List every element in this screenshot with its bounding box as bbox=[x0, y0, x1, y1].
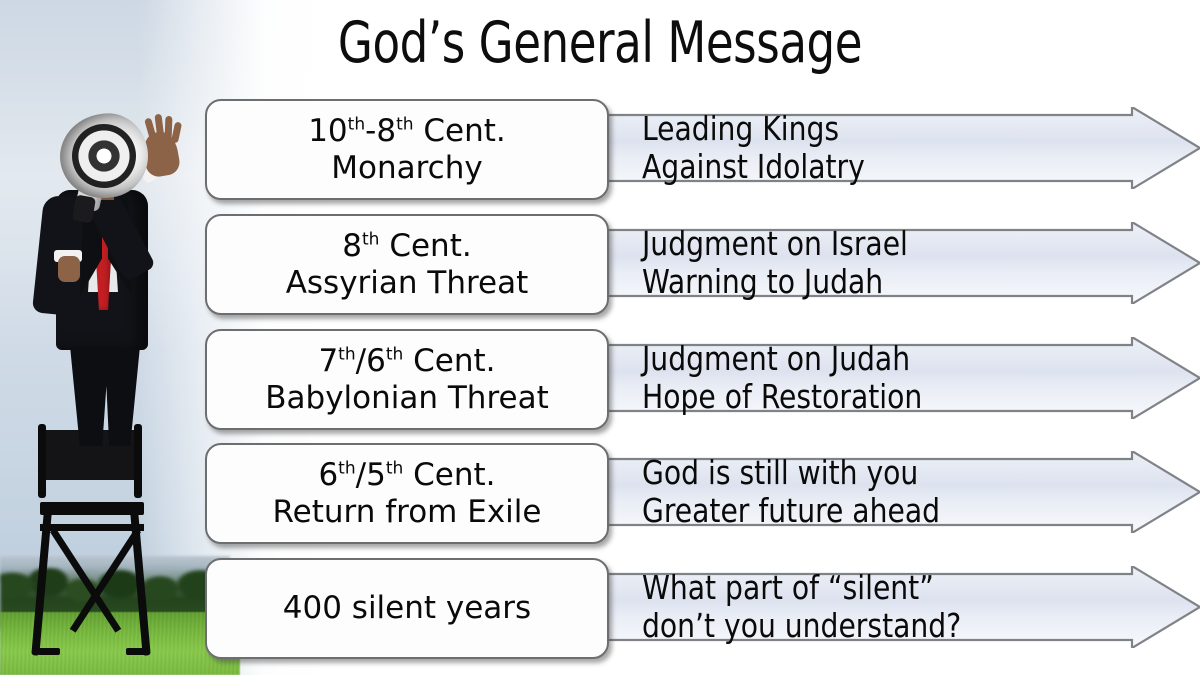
message-text: Judgment on Judah Hope of Restoration bbox=[642, 337, 1089, 419]
period-pre: 8 bbox=[342, 228, 362, 264]
period-text: 6th/5th Cent. Return from Exile bbox=[265, 457, 550, 530]
period-label-box: 400 silent years bbox=[205, 558, 609, 659]
period-post: Cent. bbox=[403, 343, 495, 379]
timeline-row: Judgment on Israel Warning to Judah 8th … bbox=[0, 205, 1200, 320]
period-sup2: th bbox=[386, 459, 403, 479]
period-sup2: th bbox=[396, 115, 413, 135]
message-text: God is still with you Greater future ahe… bbox=[642, 451, 1089, 533]
period-text: 400 silent years bbox=[275, 590, 539, 626]
message-arrow: Leading Kings Against Idolatry bbox=[608, 107, 1200, 189]
period-post: Cent. bbox=[379, 228, 471, 264]
period-post: Cent. bbox=[414, 113, 506, 149]
period-line-2: Babylonian Threat bbox=[265, 380, 549, 416]
period-label-box: 8th Cent. Assyrian Threat bbox=[205, 214, 609, 315]
timeline-row: Leading Kings Against Idolatry 10th-8th … bbox=[0, 90, 1200, 205]
period-pre: 6 bbox=[318, 457, 338, 493]
message-line-1: Leading Kings bbox=[642, 110, 1089, 148]
period-sup: th bbox=[348, 115, 365, 135]
period-mid: -8 bbox=[365, 113, 396, 149]
timeline-row: What part of “silent” don’t you understa… bbox=[0, 549, 1200, 664]
period-label-box: 7th/6th Cent. Babylonian Threat bbox=[205, 329, 609, 430]
message-text: What part of “silent” don’t you understa… bbox=[642, 566, 1089, 648]
message-line-1: What part of “silent” bbox=[642, 569, 1089, 607]
timeline-row: God is still with you Greater future ahe… bbox=[0, 434, 1200, 549]
message-arrow: Judgment on Israel Warning to Judah bbox=[608, 222, 1200, 304]
message-line-2: Against Idolatry bbox=[642, 148, 1089, 186]
page-title: God’s General Message bbox=[72, 14, 1128, 74]
period-sup: th bbox=[362, 230, 379, 250]
period-label-box: 6th/5th Cent. Return from Exile bbox=[205, 443, 609, 544]
timeline-row: Judgment on Judah Hope of Restoration 7t… bbox=[0, 320, 1200, 435]
period-post: Cent. bbox=[403, 457, 495, 493]
period-mid: /6 bbox=[356, 343, 386, 379]
message-text: Leading Kings Against Idolatry bbox=[642, 107, 1089, 189]
period-sup: th bbox=[338, 459, 355, 479]
message-line-2: Warning to Judah bbox=[642, 263, 1089, 301]
message-text: Judgment on Israel Warning to Judah bbox=[642, 222, 1089, 304]
slide-canvas: God’s General Message Leading Kings Agai… bbox=[0, 0, 1200, 675]
period-line-2: Assyrian Threat bbox=[286, 265, 529, 301]
period-text: 10th-8th Cent. Monarchy bbox=[300, 113, 514, 186]
period-line-2: Monarchy bbox=[308, 150, 506, 186]
period-text: 8th Cent. Assyrian Threat bbox=[278, 228, 537, 301]
message-line-2: Greater future ahead bbox=[642, 492, 1089, 530]
period-label-box: 10th-8th Cent. Monarchy bbox=[205, 99, 609, 200]
period-sup: th bbox=[338, 345, 355, 365]
message-arrow: God is still with you Greater future ahe… bbox=[608, 451, 1200, 533]
period-pre: 7 bbox=[318, 343, 338, 379]
message-line-2: Hope of Restoration bbox=[642, 378, 1089, 416]
message-arrow: What part of “silent” don’t you understa… bbox=[608, 566, 1200, 648]
period-pre: 10 bbox=[308, 113, 347, 149]
message-arrow: Judgment on Judah Hope of Restoration bbox=[608, 337, 1200, 419]
period-pre: 400 silent years bbox=[283, 590, 531, 626]
message-line-1: Judgment on Israel bbox=[642, 225, 1089, 263]
message-line-1: God is still with you bbox=[642, 454, 1089, 492]
period-text: 7th/6th Cent. Babylonian Threat bbox=[257, 343, 557, 416]
period-sup2: th bbox=[386, 345, 403, 365]
period-line-2: Return from Exile bbox=[273, 494, 542, 530]
message-line-1: Judgment on Judah bbox=[642, 340, 1089, 378]
period-mid: /5 bbox=[356, 457, 386, 493]
message-line-2: don’t you understand? bbox=[642, 607, 1089, 645]
